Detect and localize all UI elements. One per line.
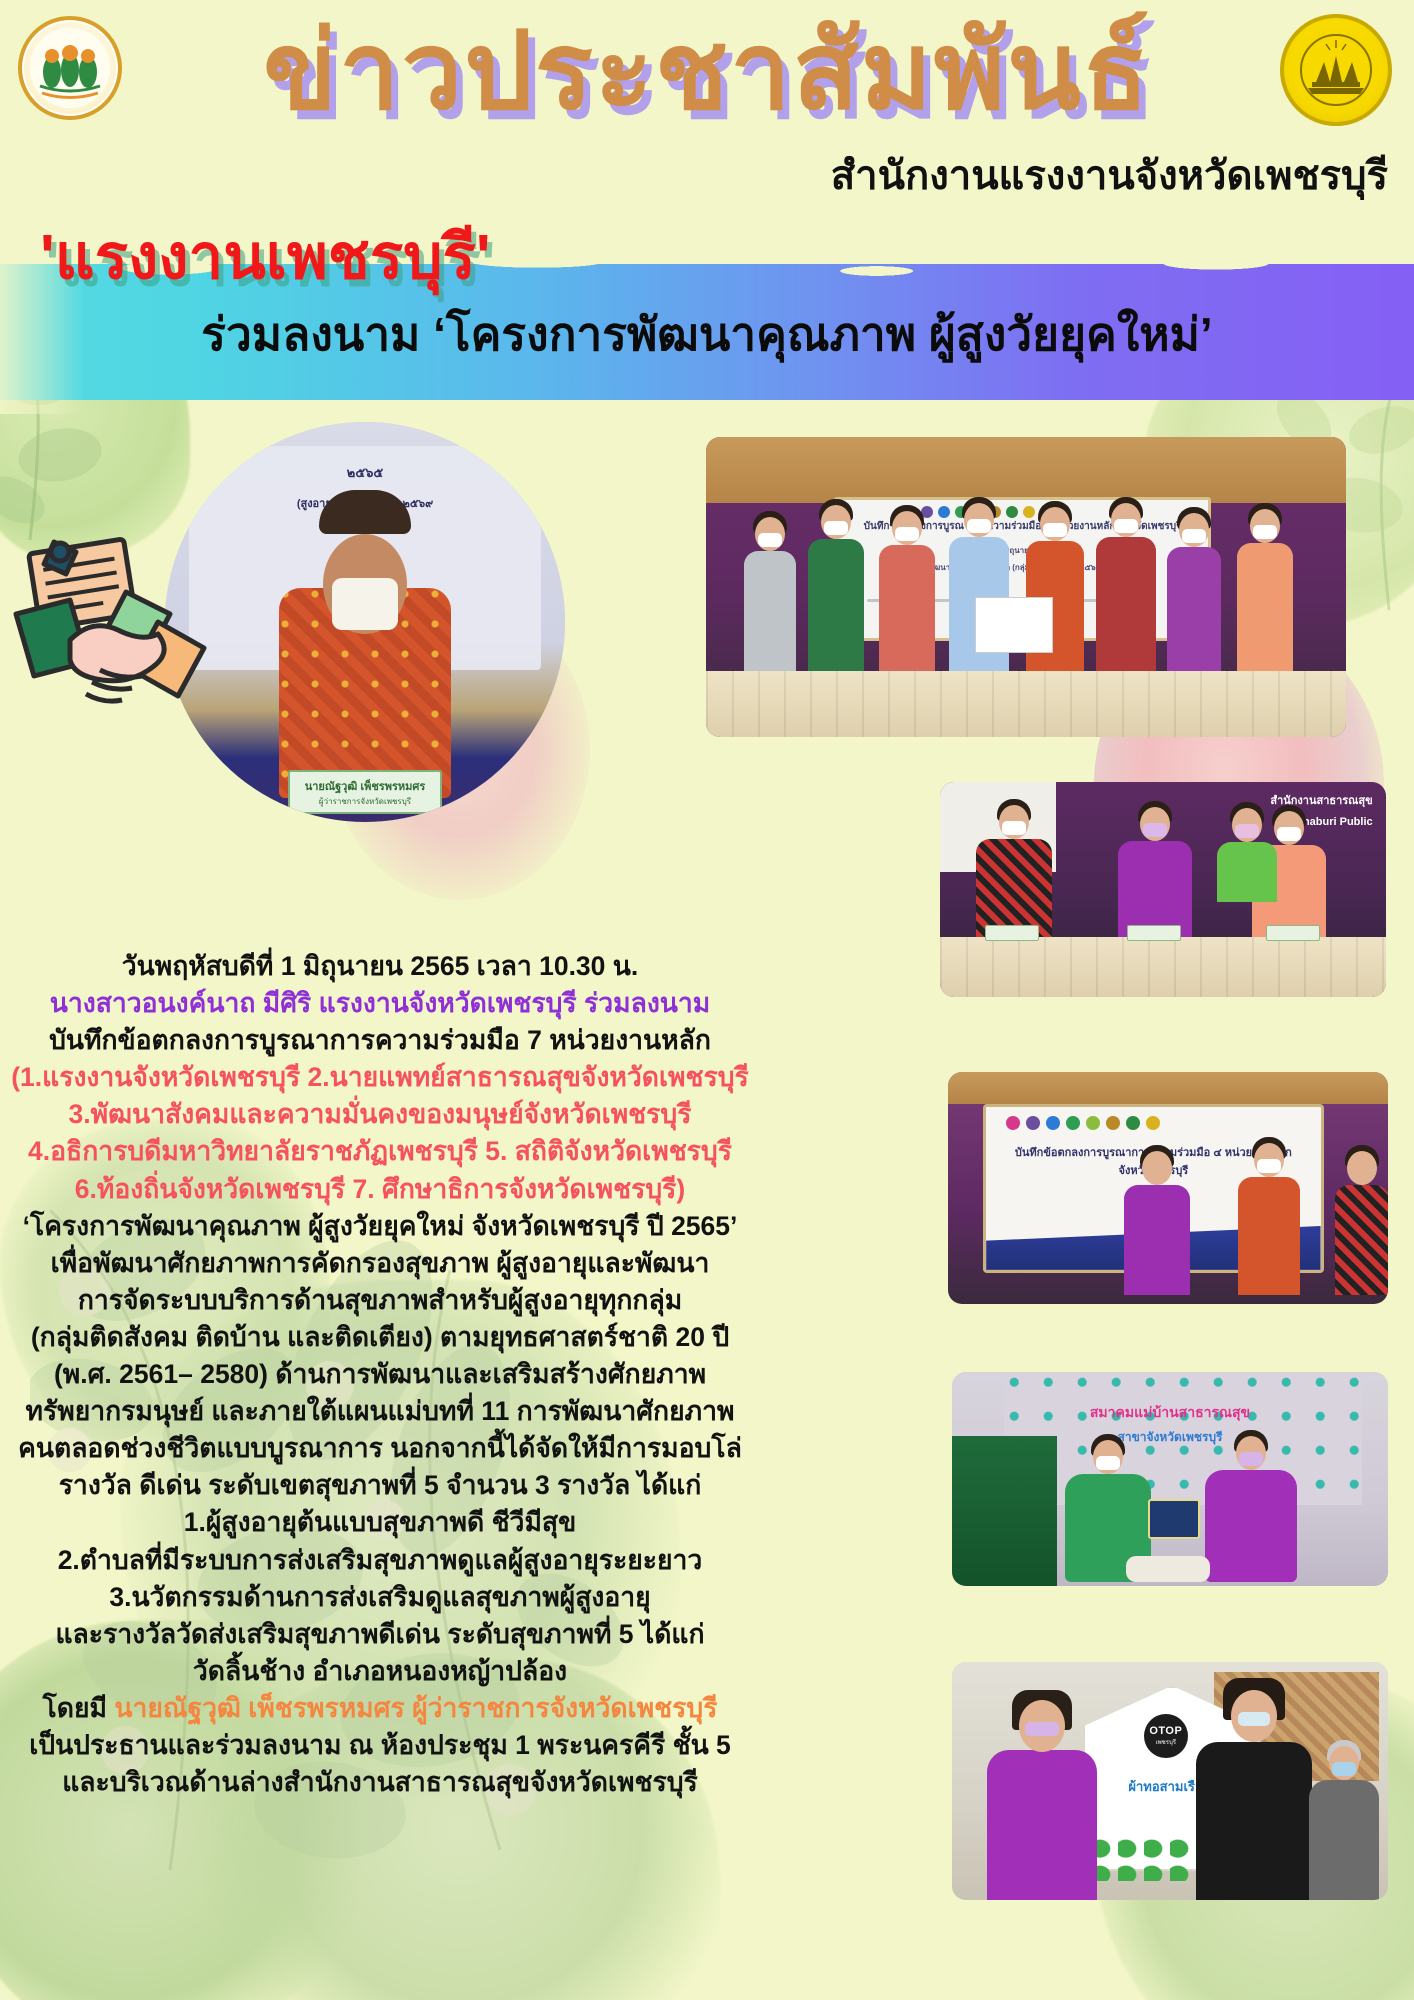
- otop-badge: OTOP: [1149, 1725, 1182, 1737]
- article-line: 3.นวัตกรรมด้านการส่งเสริมดูแลสุขภาพผู้สู…: [0, 1579, 760, 1616]
- closing-line-1: โดยมี นายณัฐวุฒิ เพ็ชรพรหมศร ผู้ว่าราชกา…: [0, 1690, 760, 1727]
- portrait-backdrop-line1: ๒๕๖๕: [205, 462, 525, 483]
- poster-root: ข่าวประชาสัมพันธ์ สำนักงานแรงงานจังหวัดเ…: [0, 0, 1414, 2000]
- article-line: และรางวัลวัดส่งเสริมสุขภาพดีเด่น ระดับสุ…: [0, 1616, 760, 1653]
- article-body: วันพฤหัสบดีที่ 1 มิถุนายน 2565 เวลา 10.3…: [0, 948, 760, 1801]
- photo-board-signing: บันทึกข้อตกลงการบูรณาการความร่วมมือ ๔ หน…: [948, 1072, 1388, 1304]
- office-subtitle: สำนักงานแรงงานจังหวัดเพชรบุรี: [831, 143, 1388, 207]
- article-line: (1.แรงงานจังหวัดเพชรบุรี 2.นายแพทย์สาธาร…: [0, 1059, 760, 1096]
- article-line: การจัดระบบบริการด้านสุขภาพสำหรับผู้สูงอา…: [0, 1282, 760, 1319]
- article-line: รางวัล ดีเด่น ระดับเขตสุขภาพที่ 5 จำนวน …: [0, 1467, 760, 1504]
- otop-badge-sub: เพชรบุรี: [1156, 1737, 1176, 1747]
- article-line: ทรัพยากรมนุษย์ และภายใต้แผนแม่บทที่ 11 ก…: [0, 1393, 760, 1430]
- brush-banner: 'แรงงานเพชรบุรี' ร่วมลงนาม ‘โครงการพัฒนา…: [0, 222, 1414, 412]
- article-lines: วันพฤหัสบดีที่ 1 มิถุนายน 2565 เวลา 10.3…: [0, 948, 760, 1690]
- closing-highlight: นายณัฐวุฒิ เพ็ชรพรหมศร ผู้ว่าราชการจังหว…: [114, 1693, 717, 1723]
- portrait-nameplate-name: นายณัฐวุฒิ เพ็ชรพรหมศร: [305, 777, 426, 795]
- photo-mou-group: บันทึกข้อตกลงการบูรณาการความร่วมมือ ๔ หน…: [706, 437, 1346, 737]
- article-line: วันพฤหัสบดีที่ 1 มิถุนายน 2565 เวลา 10.3…: [0, 948, 760, 985]
- article-line: บันทึกข้อตกลงการบูรณาการความร่วมมือ 7 หน…: [0, 1022, 760, 1059]
- article-line: (กลุ่มติดสังคม ติดบ้าน และติดเตียง) ตามย…: [0, 1319, 760, 1356]
- project-title: ร่วมลงนาม ‘โครงการพัฒนาคุณภาพ ผู้สูงวัยย…: [0, 298, 1414, 371]
- article-line: 2.ตำบลที่มีระบบการส่งเสริมสุขภาพดูแลผู้ส…: [0, 1542, 760, 1579]
- photo-panel-signing: สำนักงานสาธารณสุข Phetchaburi Public: [940, 782, 1386, 997]
- closing-line-3: และบริเวณด้านล่างสำนักงานสาธารณสุขจังหวั…: [0, 1764, 760, 1801]
- closing-prefix: โดยมี: [43, 1693, 115, 1723]
- article-line: 1.ผู้สูงอายุต้นแบบสุขภาพดี ชีวีมีสุข: [0, 1504, 760, 1541]
- award-backdrop-line1: สมาคมแม่บ้านสาธารณสุข: [952, 1402, 1388, 1424]
- handshake-agreement-icon: [8, 530, 228, 730]
- article-line: นางสาวอนงค์นาถ มีศิริ แรงงานจังหวัดเพชรบ…: [0, 985, 760, 1022]
- article-line: เพื่อพัฒนาศักยภาพการคัดกรองสุขภาพ ผู้สูง…: [0, 1245, 760, 1282]
- article-line: คนตลอดช่วงชีวิตแบบบูรณาการ นอกจากนี้ได้จ…: [0, 1430, 760, 1467]
- photo-otop-booth: OTOP เพชรบุรี ผ้าทอสามเรือน: [952, 1662, 1388, 1900]
- closing-line-2: เป็นประธานและร่วมลงนาม ณ ห้องประชุม 1 พร…: [0, 1727, 760, 1764]
- page-title: ข่าวประชาสัมพันธ์: [0, 12, 1414, 131]
- article-line: 3.พัฒนาสังคมและความมั่นคงของมนุษย์จังหวั…: [0, 1096, 760, 1133]
- photo-award-handover: สมาคมแม่บ้านสาธารณสุข สาขาจังหวัดเพชรบุร…: [952, 1372, 1388, 1586]
- poster-header: ข่าวประชาสัมพันธ์ สำนักงานแรงงานจังหวัดเ…: [0, 0, 1414, 230]
- article-line: ‘โครงการพัฒนาคุณภาพ ผู้สูงวัยยุคใหม่ จัง…: [0, 1208, 760, 1245]
- article-line: 4.อธิการบดีมหาวิทยาลัยราชภัฏเพชรบุรี 5. …: [0, 1133, 760, 1170]
- article-line: (พ.ศ. 2561– 2580) ด้านการพัฒนาและเสริมสร…: [0, 1356, 760, 1393]
- article-line: วัดลิ้นช้าง อำเภอหนองหญ้าปล้อง: [0, 1653, 760, 1690]
- portrait-nameplate-role: ผู้ว่าราชการจังหวัดเพชรบุรี: [319, 795, 411, 808]
- article-line: 6.ท้องถิ่นจังหวัดเพชรบุรี 7. ศึกษาธิการจ…: [0, 1171, 760, 1208]
